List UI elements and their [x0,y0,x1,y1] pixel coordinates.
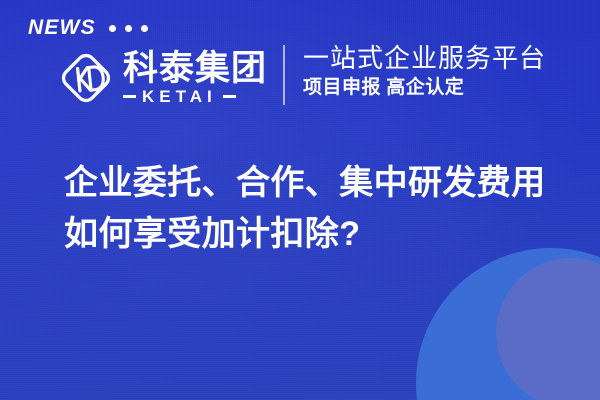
three-dots-icon [109,23,148,32]
wordmark-rule-left [123,95,136,98]
vertical-divider [283,45,285,105]
news-banner: NEWS 科泰集团 [0,0,600,400]
brand-name-en-row: KETAI [123,88,267,105]
tagline-main: 一站式企业服务平台 [303,44,546,73]
dot-2 [125,25,132,32]
wordmark-rule-right [223,95,236,98]
brand-wordmark: 科泰集团 KETAI [123,51,267,105]
brand-name-en: KETAI [142,88,217,105]
tagline-block: 一站式企业服务平台 项目申报 高企认定 [303,44,546,99]
ketai-diamond-kd-monogram-icon [55,47,117,109]
news-eyebrow: NEWS [28,14,148,40]
tagline-sub: 项目申报 高企认定 [303,77,546,99]
headline-title: 企业委托、合作、集中研发费用如何享受加计扣除? [64,158,576,260]
dot-1 [109,25,116,32]
dot-3 [141,25,148,32]
brand-name-cn: 科泰集团 [123,51,267,87]
news-label: NEWS [28,17,96,38]
brand-lockup: 科泰集团 KETAI [55,42,267,114]
